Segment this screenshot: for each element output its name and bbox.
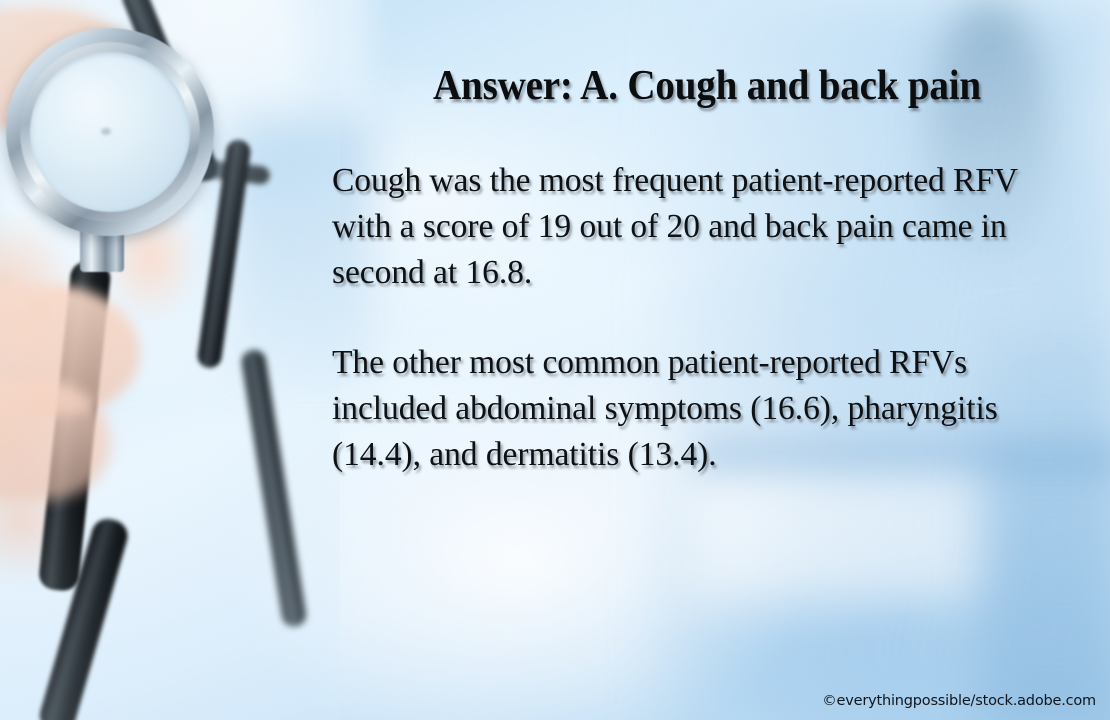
photo-vignette	[0, 0, 340, 720]
paragraph-1: Cough was the most frequent patient-repo…	[332, 158, 1084, 296]
page-title: Answer: A. Cough and back pain	[358, 62, 1056, 110]
background-highlight-patch	[690, 470, 990, 600]
body-text-block: Cough was the most frequent patient-repo…	[332, 158, 1084, 478]
slide-canvas: Answer: A. Cough and back pain Cough was…	[0, 0, 1110, 720]
image-credit: ©everythingpossible/stock.adobe.com	[822, 693, 1096, 709]
paragraph-2: The other most common patient-reported R…	[332, 340, 1084, 478]
